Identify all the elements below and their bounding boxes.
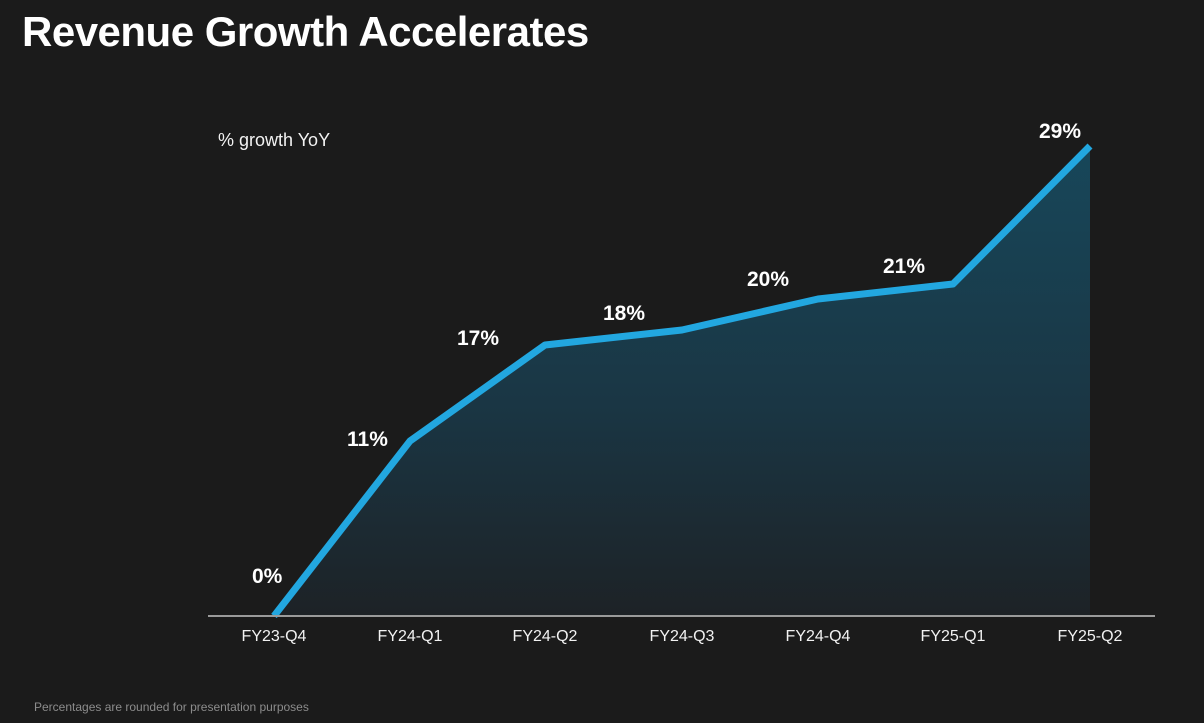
chart-plot-area [0,0,1204,723]
x-tick-label-fy25-q1: FY25-Q1 [921,628,986,646]
data-label-fy25-q1: 21% [883,255,925,279]
data-label-fy24-q3: 18% [603,302,645,326]
data-label-fy24-q4: 20% [747,268,789,292]
x-tick-label-fy23-q4: FY23-Q4 [242,628,307,646]
data-label-fy24-q1: 11% [347,428,388,452]
x-tick-label-fy24-q4: FY24-Q4 [786,628,851,646]
data-label-fy24-q2: 17% [457,327,499,351]
slide-canvas: Revenue Growth Accelerates % growth YoY … [0,0,1204,723]
x-tick-label-fy25-q2: FY25-Q2 [1058,628,1123,646]
data-label-fy25-q2: 29% [1039,120,1081,144]
data-label-fy23-q4: 0% [252,565,282,589]
x-tick-label-fy24-q2: FY24-Q2 [513,628,578,646]
x-tick-label-fy24-q1: FY24-Q1 [378,628,443,646]
x-tick-label-fy24-q3: FY24-Q3 [650,628,715,646]
line-area-chart [0,0,1204,723]
area-fill [274,146,1090,616]
footnote-text: Percentages are rounded for presentation… [34,700,309,714]
